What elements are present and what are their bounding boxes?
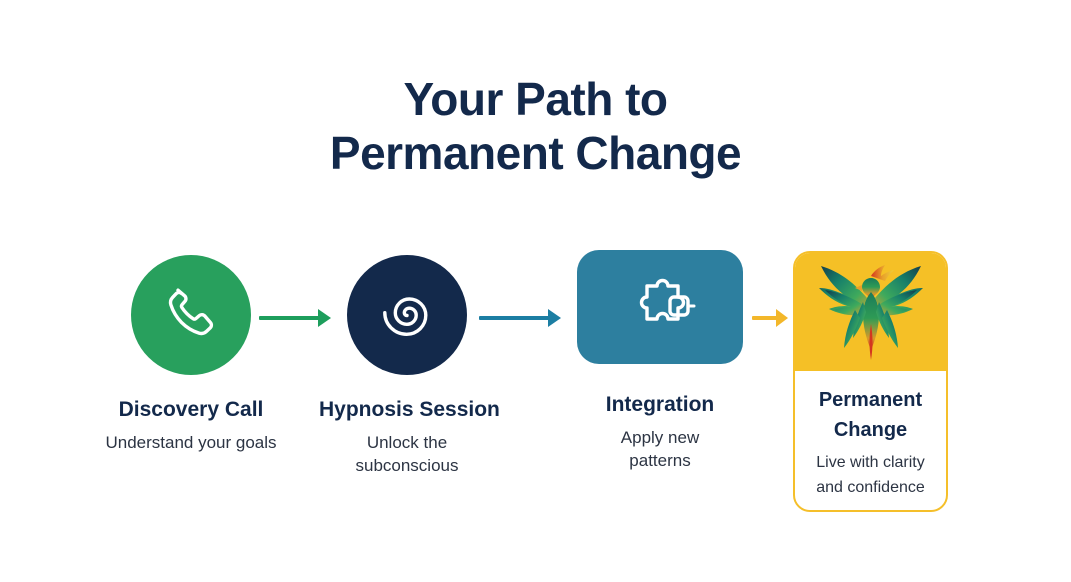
page-title-line-1: Your Path to [0,72,1071,126]
step-3-icon-panel [577,250,743,364]
arrow-3-icon [752,306,788,330]
step-2-label: Hypnosis Session [319,397,495,423]
step-hypnosis-session[interactable]: Hypnosis Session Unlock the subconscious [319,248,495,477]
process-flow: Discovery Call Understand your goals Hyp… [0,248,1071,528]
step-4-label: Permanent Change [805,385,936,445]
puzzle-piece-icon [623,272,697,343]
arrow-3-shaft [752,316,777,320]
arrow-2-shaft [479,316,549,320]
step-permanent-change-card[interactable]: Permanent Change Live with clarity and c… [793,251,948,512]
page-title: Your Path to Permanent Change [0,72,1071,180]
step-2-icon-circle [347,255,467,375]
arrow-2-head [548,309,561,327]
step-discovery-call[interactable]: Discovery Call Understand your goals [103,248,279,454]
step-1-label: Discovery Call [103,397,279,423]
step-4-image-header [795,253,946,371]
phoenix-icon [807,254,935,371]
step-1-description: Understand your goals [103,431,279,454]
step-4-description: Live with clarity and confidence [805,450,936,500]
step-4-body: Permanent Change Live with clarity and c… [795,371,946,500]
step-integration[interactable]: Integration Apply new patterns [572,248,748,472]
arrow-2-icon [479,306,561,330]
arrow-1-shaft [259,316,319,320]
step-3-label: Integration [572,392,748,418]
arrow-3-head [776,309,788,327]
step-2-description: Unlock the subconscious [319,431,495,477]
page-title-line-2: Permanent Change [0,126,1071,180]
phone-icon [159,281,223,350]
spiral-icon [371,277,443,354]
step-3-description: Apply new patterns [595,426,725,472]
step-1-icon-circle [131,255,251,375]
